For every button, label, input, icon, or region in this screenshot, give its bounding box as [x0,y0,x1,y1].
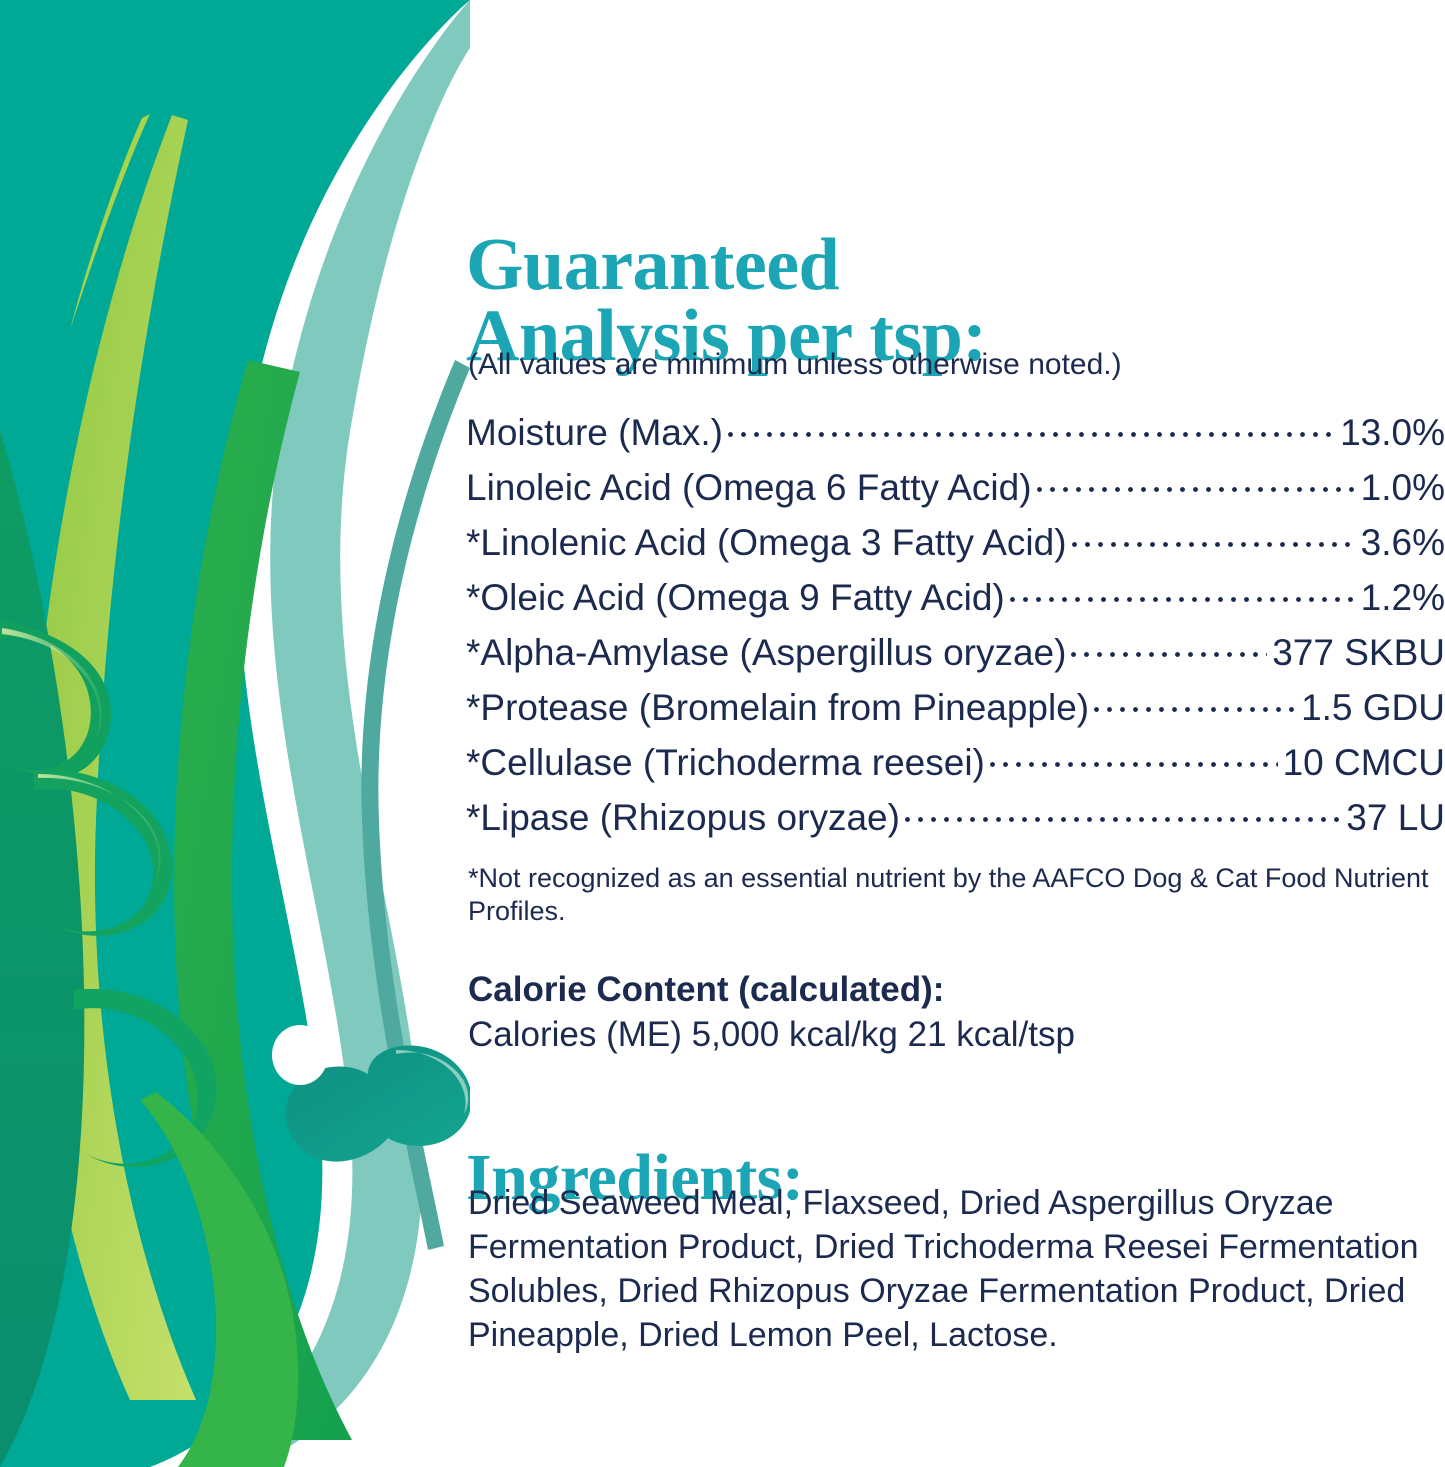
nutrient-value: 10 CMCU [1283,742,1445,784]
table-row: *Lipase (Rhizopus oryzae) 37 LU [466,793,1445,848]
teal-swoosh-band [180,0,470,1467]
guaranteed-analysis-subnote: (All values are minimum unless otherwise… [468,348,1122,382]
nutrient-value: 37 LU [1346,797,1445,839]
frond-highlight-upper [2,628,102,738]
guaranteed-analysis-heading-line-1: Guaranteed [466,230,1426,301]
seaweed-frond-left-upper [0,620,111,777]
teal-stem-curve [361,360,470,1250]
table-row: *Alpha-Amylase (Aspergillus oryzae) 377 … [466,628,1445,683]
nutrient-name: Moisture (Max.) [466,412,723,454]
nutrient-name: *Protease (Bromelain from Pineapple) [466,687,1089,729]
aafco-footnote: *Not recognized as an essential nutrient… [468,862,1436,928]
dotted-leader [1072,518,1356,555]
seaweed-blade-pale-top [29,115,196,1400]
dotted-leader [728,408,1335,445]
frond-highlight-right [396,1050,468,1114]
dotted-leader [1010,573,1356,610]
nutrient-name: Linoleic Acid (Omega 6 Fatty Acid) [466,467,1032,509]
ingredients-body: Dried Seaweed Meal, Flaxseed, Dried Aspe… [468,1182,1433,1357]
dotted-leader [905,793,1341,830]
calorie-content-value: Calories (ME) 5,000 kcal/kg 21 kcal/tsp [468,1012,1368,1058]
nutrient-table: Moisture (Max.) 13.0% Linoleic Acid (Ome… [466,408,1445,848]
nutrient-value: 377 SKBU [1272,632,1445,674]
table-row: *Cellulase (Trichoderma reesei) 10 CMCU [466,738,1445,793]
nutrient-value: 1.2% [1361,577,1445,619]
nutrient-value: 1.5 GDU [1301,687,1445,729]
seaweed-blade-bottom-green [140,1092,298,1467]
nutrient-name: *Alpha-Amylase (Aspergillus oryzae) [466,632,1066,674]
nutrient-value: 3.6% [1361,522,1445,564]
seaweed-blade-green-mid [174,360,352,1440]
nutrient-name: *Linolenic Acid (Omega 3 Fatty Acid) [466,522,1067,564]
calorie-content-block: Calorie Content (calculated): Calories (… [468,968,1368,1057]
frond-highlight-mid [38,774,161,878]
dotted-leader [1071,628,1267,665]
seaweed-frond-right-teal [286,1046,470,1162]
table-row: *Linolenic Acid (Omega 3 Fatty Acid) 3.6… [466,518,1445,573]
product-label-panel: Guaranteed Analysis per tsp: (All values… [0,0,1445,1467]
nutrient-name: *Lipase (Rhizopus oryzae) [466,797,900,839]
teal-background-shape [0,0,470,1467]
table-row: Moisture (Max.) 13.0% [466,408,1445,463]
table-row: *Protease (Bromelain from Pineapple) 1.5… [466,683,1445,738]
seaweed-blade-deep [0,430,84,1467]
nutrient-value: 13.0% [1340,412,1445,454]
nutrient-name: *Cellulase (Trichoderma reesei) [466,742,985,784]
table-row: Linoleic Acid (Omega 6 Fatty Acid) 1.0% [466,463,1445,518]
dotted-leader [1037,463,1356,500]
nutrient-name: *Oleic Acid (Omega 9 Fatty Acid) [466,577,1005,619]
calorie-content-title: Calorie Content (calculated): [468,968,1368,1012]
nutrient-value: 1.0% [1361,467,1445,509]
seaweed-frond-left-lower [74,989,217,1167]
frond-aperture [272,1025,328,1085]
seaweed-illustration [0,0,470,1467]
seaweed-frond-left-mid [34,769,172,935]
table-row: *Oleic Acid (Omega 9 Fatty Acid) 1.2% [466,573,1445,628]
dotted-leader [990,738,1278,775]
seaweed-tip-top [70,114,150,330]
label-content-column: Guaranteed Analysis per tsp: (All values… [462,0,1445,1467]
dotted-leader [1094,683,1296,720]
